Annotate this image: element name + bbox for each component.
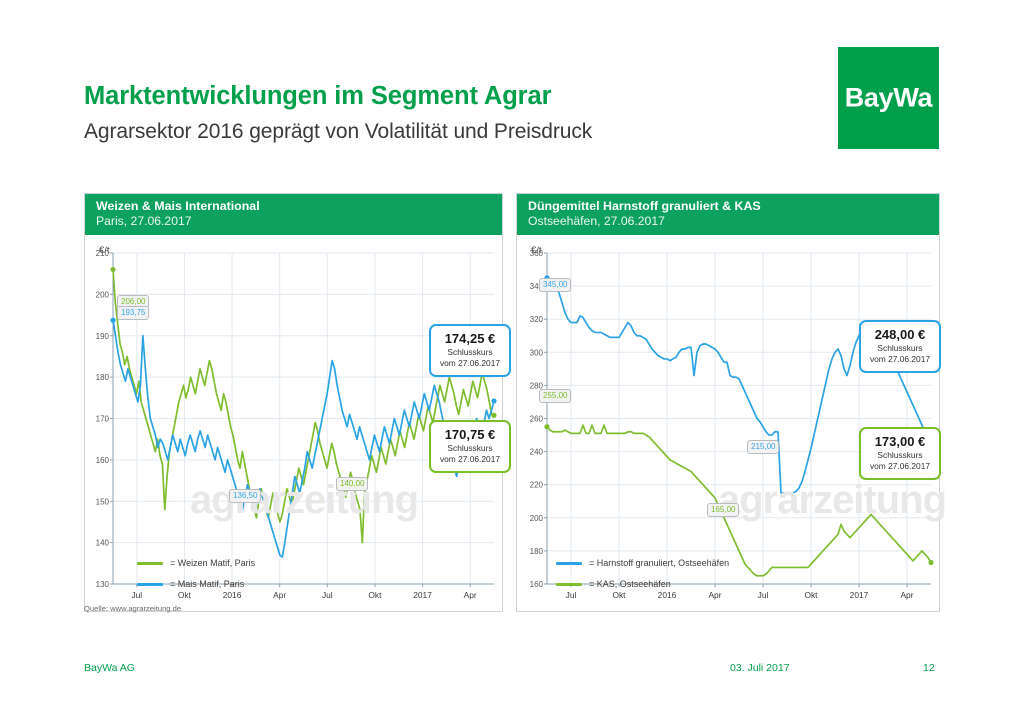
legend-swatch-green [137,562,163,565]
slide-root: BayWa Marktentwicklungen im Segment Agra… [0,0,1024,724]
svg-text:Jul: Jul [758,590,769,600]
source-note: Quelle: www.agrarzeitung.de [84,604,181,613]
svg-text:Apr: Apr [900,590,913,600]
legend-item-harnstoff: = Harnstoff granuliert, Ostseehäfen [556,558,729,568]
svg-text:240: 240 [530,448,544,457]
callout-label-1: Schlusskurs [868,343,932,354]
svg-text:160: 160 [96,456,110,465]
footer-page-number: 12 [923,662,935,674]
value-tag-harnstoff-mid: 215,00 [747,440,779,454]
panel-title-left: Weizen & Mais International [96,199,502,214]
callout-label-2: vom 27.06.2017 [868,354,932,365]
callout-label-2: vom 27.06.2017 [438,454,502,465]
baywa-logo-text: BayWa [838,83,939,114]
legend-left: = Weizen Matif, Paris = Mais Matif, Pari… [137,558,255,600]
callout-value: 174,25 € [438,331,502,347]
svg-text:Okt: Okt [368,590,382,600]
svg-text:200: 200 [530,514,544,523]
callout-label-2: vom 27.06.2017 [438,358,502,369]
svg-text:Okt: Okt [804,590,818,600]
legend-item-weizen: = Weizen Matif, Paris [137,558,255,568]
callout-harnstoff-close: 248,00 € Schlusskurs vom 27.06.2017 [859,320,941,373]
callout-label-2: vom 27.06.2017 [868,461,932,472]
page-title: Marktentwicklungen im Segment Agrar [84,82,551,111]
value-tag-kas-min: 165,00 [707,503,739,517]
svg-text:320: 320 [530,315,544,324]
callout-weizen-close: 170,75 € Schlusskurs vom 27.06.2017 [429,420,511,473]
callout-value: 173,00 € [868,434,932,450]
svg-text:260: 260 [530,415,544,424]
svg-text:Jul: Jul [322,590,333,600]
svg-text:180: 180 [530,547,544,556]
svg-text:2017: 2017 [413,590,432,600]
svg-text:300: 300 [530,348,544,357]
svg-text:Apr: Apr [273,590,286,600]
svg-text:180: 180 [96,373,110,382]
value-tag-harnstoff-max: 345,00 [539,278,571,292]
panel-title-right: Düngemittel Harnstoff granuliert & KAS [528,199,939,214]
svg-text:2017: 2017 [850,590,869,600]
svg-text:190: 190 [96,332,110,341]
svg-text:150: 150 [96,497,110,506]
svg-text:220: 220 [530,481,544,490]
baywa-logo: BayWa [838,47,939,149]
chart-panel-weizen-mais: Weizen & Mais International Paris, 27.06… [84,193,503,612]
callout-mais-close: 174,25 € Schlusskurs vom 27.06.2017 [429,324,511,377]
svg-text:130: 130 [96,580,110,589]
callout-label-1: Schlusskurs [438,347,502,358]
legend-label: = KAS, Ostseehäfen [589,579,671,589]
callout-value: 170,75 € [438,427,502,443]
svg-text:360: 360 [530,249,544,258]
legend-swatch-blue [137,583,163,586]
panel-header-right: Düngemittel Harnstoff granuliert & KAS O… [517,194,939,235]
panel-subtitle-left: Paris, 27.06.2017 [96,214,502,229]
footer-date: 03. Juli 2017 [730,662,790,674]
legend-label: = Harnstoff granuliert, Ostseehäfen [589,558,729,568]
legend-right: = Harnstoff granuliert, Ostseehäfen = KA… [556,558,729,600]
plot-area-right: €/t 160180200220240260280300320340360Jul… [517,235,939,612]
svg-text:Apr: Apr [464,590,477,600]
panel-subtitle-right: Ostseehäfen, 27.06.2017 [528,214,939,229]
svg-text:160: 160 [530,580,544,589]
legend-swatch-blue [556,562,582,565]
callout-label-1: Schlusskurs [868,450,932,461]
chart-panel-duengemittel: Düngemittel Harnstoff granuliert & KAS O… [516,193,940,612]
page-subtitle: Agrarsektor 2016 geprägt von Volatilität… [84,120,592,144]
legend-label: = Weizen Matif, Paris [170,558,255,568]
value-tag-kas-max: 255,00 [539,389,571,403]
svg-text:140: 140 [96,539,110,548]
svg-text:200: 200 [96,290,110,299]
legend-item-kas: = KAS, Ostseehäfen [556,579,729,589]
legend-item-mais: = Mais Matif, Paris [137,579,255,589]
panel-header-left: Weizen & Mais International Paris, 27.06… [85,194,502,235]
callout-kas-close: 173,00 € Schlusskurs vom 27.06.2017 [859,427,941,480]
legend-swatch-green [556,583,582,586]
footer-company: BayWa AG [84,662,135,674]
callout-label-1: Schlusskurs [438,443,502,454]
value-tag-weizen-min: 140,00 [336,477,368,491]
legend-label: = Mais Matif, Paris [170,579,244,589]
callout-value: 248,00 € [868,327,932,343]
svg-text:170: 170 [96,415,110,424]
value-tag-mais-max: 193,75 [117,306,149,320]
svg-text:210: 210 [96,249,110,258]
value-tag-mais-min: 136,50 [229,489,261,503]
line-chart-right: 160180200220240260280300320340360JulOkt2… [517,235,939,612]
